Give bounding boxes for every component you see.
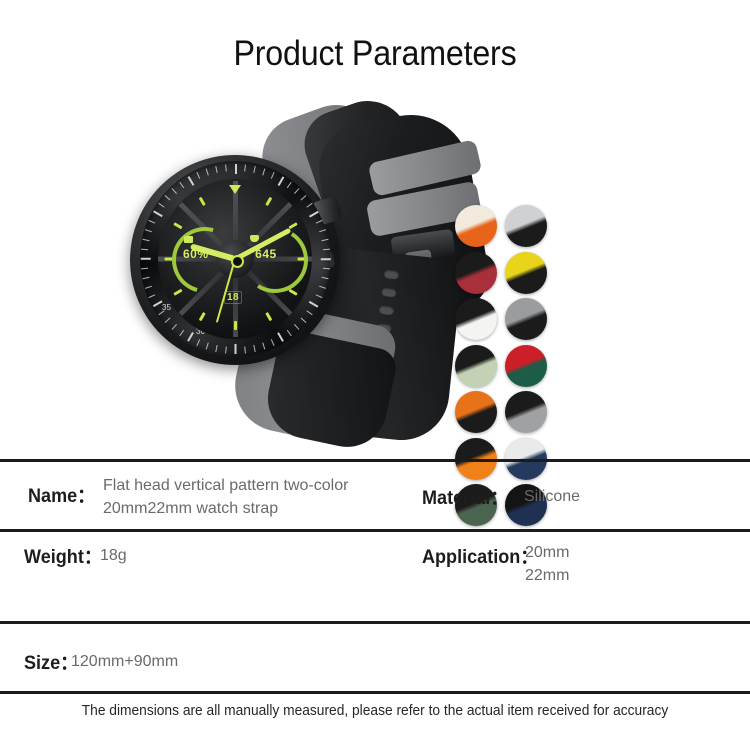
color-swatch-red-black[interactable] [455, 252, 497, 294]
color-swatch-grey-black[interactable] [505, 391, 547, 433]
swatch-two-tone-fill [505, 205, 547, 247]
swatch-two-tone-fill [505, 391, 547, 433]
color-swatch-black-silver[interactable] [505, 205, 547, 247]
spec-label-application: Application： [422, 542, 538, 569]
swatch-two-tone-fill [505, 252, 547, 294]
color-swatch-grid [455, 205, 565, 525]
swatch-two-tone-fill [455, 205, 497, 247]
table-divider-1 [0, 459, 750, 462]
table-divider-3 [0, 621, 750, 624]
date-value: 18 [224, 291, 242, 304]
smartwatch-illustration: 10 15 20 25 30 35 [118, 103, 458, 438]
color-swatch-white-black[interactable] [455, 298, 497, 340]
product-image: 10 15 20 25 30 35 [0, 95, 750, 445]
color-swatch-orange-white[interactable] [455, 205, 497, 247]
table-divider-2 [0, 529, 750, 532]
bezel-number-35: 35 [162, 303, 171, 312]
battery-icon [184, 236, 193, 243]
spec-value-application: 20mm 22mm [525, 541, 725, 587]
swatch-two-tone-fill [455, 298, 497, 340]
swatch-two-tone-fill [505, 345, 547, 387]
swatch-two-tone-fill [455, 345, 497, 387]
watch-dial: 60% 7645 18 [158, 179, 312, 339]
color-swatch-black-orange[interactable] [455, 391, 497, 433]
spec-value-weight: 18g [100, 544, 300, 567]
color-swatch-black-yellow[interactable] [505, 252, 547, 294]
color-swatch-green-red[interactable] [505, 345, 547, 387]
measurement-disclaimer: The dimensions are all manually measured… [19, 703, 732, 719]
spec-label-name: Name： [28, 481, 95, 508]
dial-top-triangle [229, 185, 241, 194]
product-parameters-page: Product Parameters 10 [0, 0, 750, 750]
spec-value-name: Flat head vertical pattern two-color 20m… [103, 474, 403, 520]
spec-value-size: 120mm+90mm [71, 650, 371, 673]
page-title: Product Parameters [30, 30, 720, 78]
swatch-two-tone-fill [455, 252, 497, 294]
spec-label-material: Material： [422, 483, 508, 510]
footsteps-icon [250, 235, 259, 242]
color-swatch-sage-black[interactable] [455, 345, 497, 387]
spec-value-material: Silicone [524, 485, 724, 508]
swatch-two-tone-fill [505, 298, 547, 340]
spec-label-weight: Weight： [24, 542, 102, 569]
table-divider-4 [0, 691, 750, 694]
color-swatch-black-grey[interactable] [505, 298, 547, 340]
hand-pivot [231, 255, 244, 268]
swatch-two-tone-fill [455, 391, 497, 433]
